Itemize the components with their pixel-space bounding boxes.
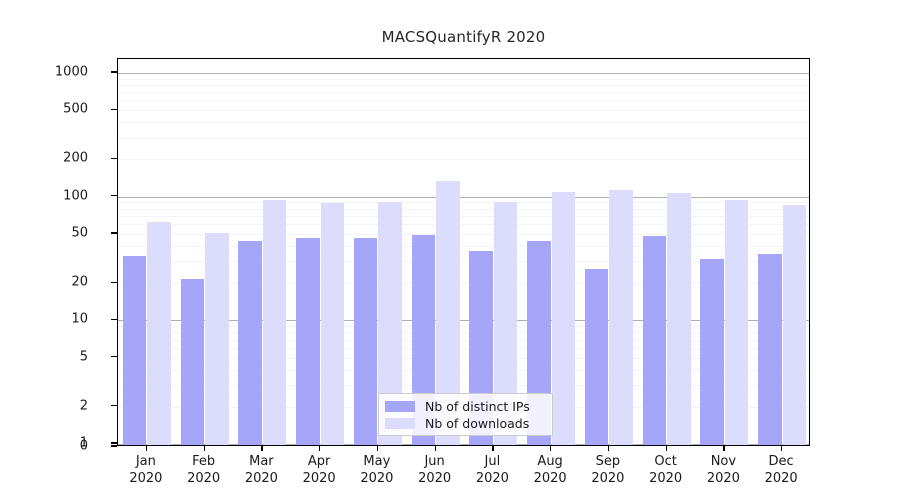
y-axis-tick-label: 50 xyxy=(0,225,88,240)
gridline xyxy=(118,138,809,139)
legend-label: Nb of downloads xyxy=(425,416,529,431)
gridline xyxy=(118,92,809,93)
bar-downloads xyxy=(552,192,576,445)
y-axis-tick-label: 200 xyxy=(0,151,88,166)
gridline xyxy=(118,73,809,74)
bar-downloads xyxy=(725,200,749,445)
x-axis-tick-mark xyxy=(608,446,609,451)
bar-downloads xyxy=(783,205,807,445)
gridline xyxy=(118,159,809,160)
y-axis-tick-mark xyxy=(111,232,117,233)
gridline xyxy=(118,224,809,225)
gridline xyxy=(118,216,809,217)
x-axis-tick-year: 2020 xyxy=(741,470,821,487)
y-axis-tick-mark xyxy=(111,195,117,196)
x-axis-tick-month: Dec xyxy=(741,453,821,470)
bar-downloads xyxy=(609,190,633,445)
bar-downloads xyxy=(205,233,229,445)
gridline xyxy=(118,209,809,210)
y-axis-tick-label: 100 xyxy=(0,188,88,203)
y-axis-tick-label: 2 xyxy=(0,398,88,413)
legend-swatch xyxy=(385,418,415,429)
bar-distinct-ips xyxy=(296,238,320,445)
chart-legend: Nb of distinct IPsNb of downloads xyxy=(378,393,553,436)
y-axis-tick-label: 500 xyxy=(0,102,88,117)
bar-distinct-ips xyxy=(643,236,667,445)
y-axis-tick-mark xyxy=(111,405,117,406)
bar-downloads xyxy=(263,200,287,445)
y-axis-tick-label: 5 xyxy=(0,349,88,364)
legend-label: Nb of distinct IPs xyxy=(425,399,530,414)
x-axis-tick-label: Dec2020 xyxy=(741,453,821,487)
x-axis-tick-mark xyxy=(204,446,205,451)
x-axis-tick-mark xyxy=(319,446,320,451)
chart-figure: MACSQuantifyR 2020 Nb of distinct IPsNb … xyxy=(0,0,900,500)
x-axis-tick-mark xyxy=(550,446,551,451)
bar-distinct-ips xyxy=(700,259,724,445)
x-axis-tick-mark xyxy=(666,446,667,451)
gridline xyxy=(118,110,809,111)
y-axis-tick-label: 1000 xyxy=(0,65,88,80)
gridline xyxy=(118,197,809,198)
x-axis-tick-mark xyxy=(377,446,378,451)
gridline xyxy=(118,79,809,80)
y-axis-tick-mark xyxy=(111,319,117,320)
bar-distinct-ips xyxy=(123,256,147,445)
bar-distinct-ips xyxy=(181,279,205,446)
bar-distinct-ips xyxy=(354,238,378,445)
legend-item: Nb of downloads xyxy=(385,415,546,432)
gridline xyxy=(118,122,809,123)
y-axis-tick-mark xyxy=(111,109,117,110)
plot-area xyxy=(117,58,810,446)
bar-distinct-ips xyxy=(238,241,262,445)
y-axis-tick-mark xyxy=(111,158,117,159)
legend-swatch xyxy=(385,401,415,412)
y-axis-tick-label: 10 xyxy=(0,312,88,327)
bar-distinct-ips xyxy=(758,254,782,445)
x-axis-tick-mark xyxy=(723,446,724,451)
x-axis-tick-mark xyxy=(146,446,147,451)
chart-title: MACSQuantifyR 2020 xyxy=(117,28,810,46)
x-axis-tick-mark xyxy=(435,446,436,451)
y-axis-tick-mark xyxy=(111,71,117,72)
y-axis-tick-mark xyxy=(111,442,117,443)
x-axis-tick-mark xyxy=(261,446,262,451)
bar-distinct-ips xyxy=(585,269,609,445)
gridline xyxy=(118,100,809,101)
gridline xyxy=(118,202,809,203)
bar-downloads xyxy=(147,222,171,445)
y-axis-tick-label: 1 xyxy=(0,436,88,451)
y-axis-tick-mark xyxy=(111,282,117,283)
legend-item: Nb of distinct IPs xyxy=(385,398,546,415)
y-axis-tick-label: 20 xyxy=(0,275,88,290)
bar-downloads xyxy=(667,193,691,445)
bar-downloads xyxy=(321,203,345,445)
y-axis-tick-mark xyxy=(111,356,117,357)
gridline xyxy=(118,85,809,86)
x-axis-tick-mark xyxy=(781,446,782,451)
x-axis-tick-mark xyxy=(492,446,493,451)
y-axis-tick-mark xyxy=(111,445,117,446)
